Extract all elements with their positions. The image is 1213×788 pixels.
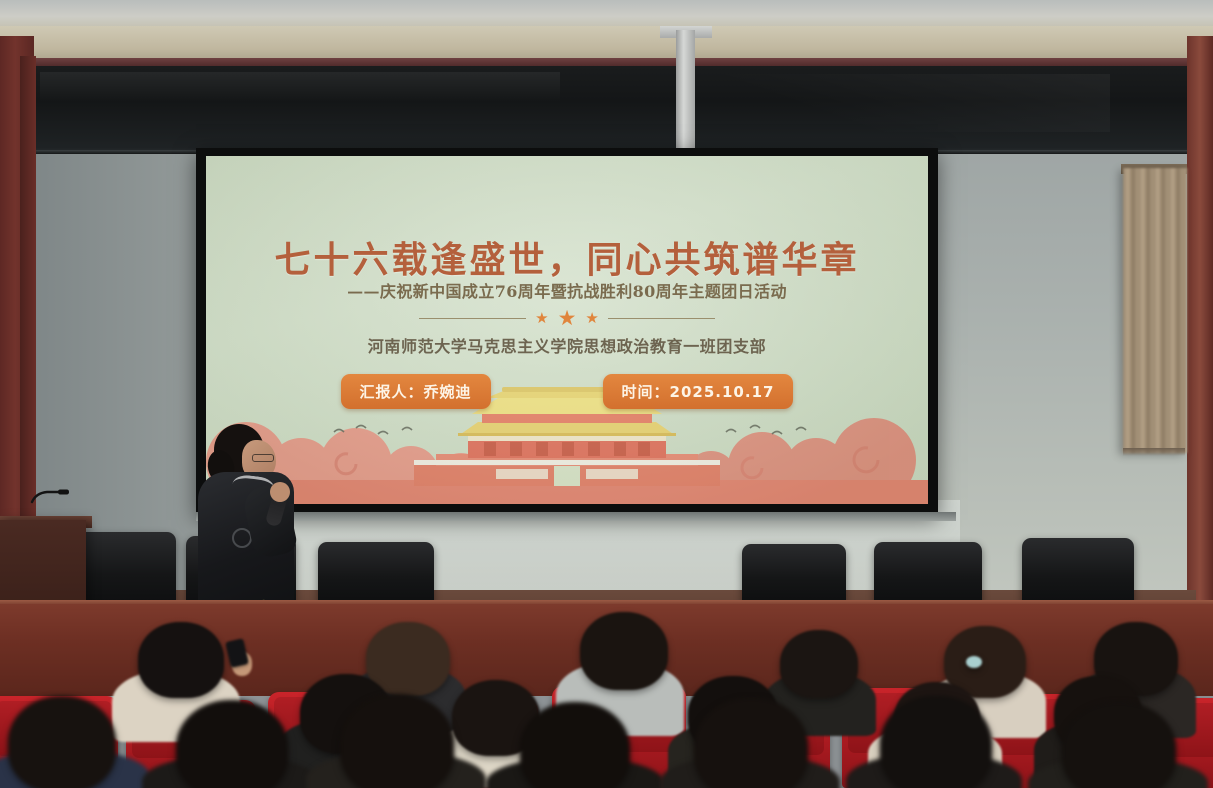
slide-title: 七十六载逢盛世，同心共筑谱华章 <box>206 231 928 283</box>
audience-head <box>520 702 630 788</box>
projection-screen-bottom-bar <box>196 512 956 521</box>
slide-organization: 河南师范大学马克思主义学院思想政治教育一班团支部 <box>206 333 928 357</box>
star-divider: ★ ★ ★ <box>206 308 928 329</box>
stage-chair <box>874 542 982 606</box>
audience-head <box>780 630 858 698</box>
star-icon-right: ★ <box>585 311 598 326</box>
smartphone-icon <box>225 638 248 667</box>
presenter-hand <box>270 482 290 502</box>
stage-chair <box>742 544 846 606</box>
auditorium-scene: EPSON <box>0 0 1213 788</box>
audience-head <box>1062 702 1176 788</box>
right-pillar <box>1187 36 1213 656</box>
window-curtain <box>1123 168 1187 453</box>
star-icon-left: ★ <box>535 311 548 326</box>
date-pill: 时间：2025.10.17 <box>603 374 794 409</box>
audience-head <box>880 696 992 788</box>
audience-head <box>8 696 116 788</box>
audience-area <box>0 600 1213 788</box>
blackboard-glare-left <box>40 72 560 102</box>
gooseneck-microphone-icon <box>30 489 70 505</box>
slide-info-pills: 汇报人：乔婉迪 时间：2025.10.17 <box>206 374 928 409</box>
divider-rule-right <box>608 318 715 319</box>
stage-chair <box>318 542 434 606</box>
slide-subtitle: ——庆祝新中国成立76周年暨抗战胜利80周年主题团日活动 <box>206 278 928 302</box>
star-icon-center: ★ <box>558 308 577 329</box>
presentation-slide: 七十六载逢盛世，同心共筑谱华章 ——庆祝新中国成立76周年暨抗战胜利80周年主题… <box>206 156 928 504</box>
photographer-head <box>138 622 224 698</box>
presenter-pill: 汇报人：乔婉迪 <box>341 374 491 409</box>
divider-rule-left <box>419 318 526 319</box>
hair-tie-accessory <box>966 656 982 668</box>
audience-head <box>694 698 808 788</box>
audience-head <box>176 700 288 788</box>
audience-head <box>580 612 668 690</box>
blackboard-glare-right <box>690 74 1110 132</box>
audience-head <box>340 694 454 788</box>
stage-chair <box>1022 538 1134 608</box>
glasses-icon <box>252 454 274 462</box>
presenter <box>186 424 304 614</box>
curtain-hem <box>1123 448 1185 456</box>
